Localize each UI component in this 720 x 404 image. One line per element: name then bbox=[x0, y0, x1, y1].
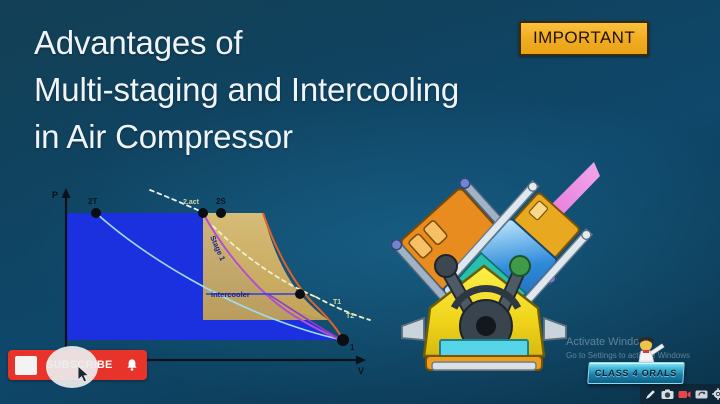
share-icon[interactable] bbox=[694, 387, 708, 401]
state-label-2act: 2.act bbox=[183, 199, 200, 206]
record-icon-svg bbox=[678, 389, 691, 400]
state-point-2S bbox=[216, 208, 226, 218]
class-banner: CLASS 4 ORALS bbox=[587, 362, 685, 384]
gear-icon[interactable] bbox=[711, 387, 720, 401]
important-badge: IMPORTANT bbox=[519, 21, 649, 56]
state-point-2T bbox=[91, 208, 101, 218]
y-axis-arrow bbox=[62, 188, 71, 198]
intercooler-annotation: intercooler bbox=[211, 290, 250, 299]
base-foot bbox=[432, 362, 536, 370]
pen-icon[interactable] bbox=[643, 387, 657, 401]
bell-icon-svg bbox=[125, 358, 139, 372]
right-wrist-pin bbox=[510, 256, 530, 276]
left-wrist-pin bbox=[435, 255, 457, 277]
work-saved-area-upper bbox=[203, 213, 328, 320]
camera-icon-svg bbox=[661, 389, 674, 400]
x-axis-label: V bbox=[358, 366, 364, 376]
banner-text: CLASS 4 ORALS bbox=[587, 362, 685, 384]
recorder-toolbar[interactable] bbox=[640, 384, 720, 404]
title-line-3: in Air Compressor bbox=[34, 114, 634, 161]
isotherm-T2-label: T2 bbox=[346, 313, 354, 320]
pen-icon-svg bbox=[645, 389, 656, 400]
slide-canvas: Advantages of Multi-staging and Intercoo… bbox=[0, 0, 720, 404]
state-point-3 bbox=[295, 289, 305, 299]
isotherm-dashed-lower bbox=[316, 297, 370, 320]
left-flange bbox=[402, 318, 424, 340]
record-icon[interactable] bbox=[677, 387, 691, 401]
bell-icon[interactable] bbox=[121, 354, 143, 376]
mouse-cursor-icon bbox=[78, 366, 92, 384]
share-icon-svg bbox=[695, 389, 708, 400]
channel-avatar-icon bbox=[15, 356, 37, 375]
state-point-2act bbox=[198, 208, 208, 218]
x-axis-arrow bbox=[356, 356, 366, 365]
state-point-1 bbox=[337, 334, 349, 346]
state-label-2T: 2T bbox=[88, 197, 97, 206]
state-label-2S: 2S bbox=[216, 197, 226, 206]
isotherm-T1-label: T1 bbox=[333, 299, 341, 306]
state-label-1: 1 bbox=[350, 343, 355, 352]
y-axis-label: P bbox=[52, 190, 58, 200]
camera-icon[interactable] bbox=[660, 387, 674, 401]
title-line-2: Multi-staging and Intercooling bbox=[34, 67, 634, 114]
crank-journal bbox=[476, 316, 496, 336]
right-flange bbox=[544, 318, 566, 340]
gear-icon-svg bbox=[712, 388, 720, 400]
